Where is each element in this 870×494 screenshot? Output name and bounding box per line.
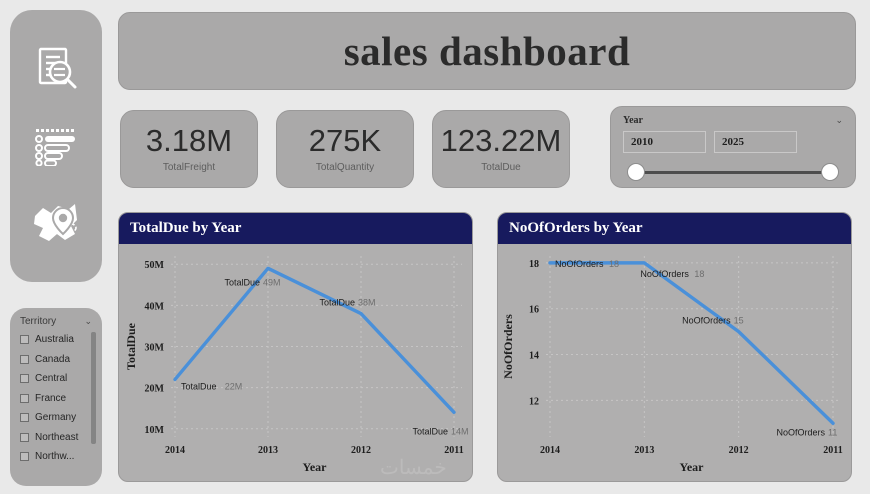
svg-text:2014: 2014 [165, 445, 185, 456]
svg-text:18: 18 [609, 259, 619, 269]
svg-text:TotalDue: TotalDue [412, 426, 448, 436]
svg-text:10M: 10M [145, 425, 165, 436]
year-range-inputs: 2010 2025 [623, 131, 843, 153]
svg-text:14M: 14M [451, 426, 469, 436]
list-item-label: Northeast [35, 432, 78, 443]
list-item-label: Australia [35, 334, 74, 345]
slider-track[interactable] [635, 171, 831, 174]
kpi-value: 275K [309, 125, 381, 158]
list-item[interactable]: Canada [18, 350, 96, 370]
year-max-input[interactable]: 2025 [714, 131, 797, 153]
list-item-label: Germany [35, 412, 76, 423]
chart-title: TotalDue by Year [130, 220, 241, 237]
svg-text:2012: 2012 [351, 445, 371, 456]
line-chart-svg: 10M20M30M40M50MTotalDueTotalDue22MTotalD… [119, 244, 472, 482]
kpi-label: TotalQuantity [316, 162, 374, 173]
svg-text:TotalDue: TotalDue [181, 381, 217, 391]
year-slicer-header: Year ⌄ [623, 115, 843, 126]
territory-slicer-header[interactable]: Territory ⌄ [18, 316, 96, 330]
list-item[interactable]: Northw... [18, 447, 96, 467]
svg-text:NoOfOrders: NoOfOrders [682, 316, 731, 326]
svg-text:16: 16 [529, 305, 539, 316]
svg-text:2013: 2013 [258, 445, 278, 456]
svg-text:50M: 50M [145, 260, 165, 271]
chart-plot-area[interactable]: 12141618NoOfOrdersNoOfOrders18NoOfOrders… [498, 244, 851, 482]
kpi-card-totalfreight[interactable]: 3.18M TotalFreight [120, 110, 258, 188]
list-item[interactable]: Australia [18, 330, 96, 350]
svg-text:Year: Year [303, 460, 328, 474]
svg-text:2011: 2011 [823, 445, 842, 456]
svg-text:NoOfOrders: NoOfOrders [640, 269, 689, 279]
svg-text:TotalDue: TotalDue [124, 322, 138, 370]
page-title-bar: sales dashboard [118, 12, 856, 90]
kpi-label: TotalDue [481, 162, 520, 173]
svg-text:NoOfOrders: NoOfOrders [501, 314, 515, 379]
chart-panel-totaldue: TotalDue by Year 10M20M30M40M50MTotalDue… [118, 212, 473, 482]
list-item-label: Canada [35, 354, 70, 365]
line-chart-svg: 12141618NoOfOrdersNoOfOrders18NoOfOrders… [498, 244, 851, 482]
svg-text:TotalDue: TotalDue [224, 277, 260, 287]
list-item-label: Northw... [35, 451, 74, 462]
slider-handle-max[interactable] [821, 163, 839, 181]
svg-text:Year: Year [680, 460, 705, 474]
chart-title: NoOfOrders by Year [509, 220, 643, 237]
svg-text:38M: 38M [358, 298, 376, 308]
list-item-label: Central [35, 373, 67, 384]
svg-text:2012: 2012 [729, 445, 749, 456]
kpi-card-totalquantity[interactable]: 275K TotalQuantity [276, 110, 414, 188]
territory-slicer-title: Territory [20, 316, 56, 327]
svg-text:30M: 30M [145, 343, 165, 354]
year-slicer-title: Year [623, 115, 643, 126]
chart-title-bar: TotalDue by Year [119, 213, 472, 244]
list-details-icon[interactable] [30, 120, 82, 172]
svg-text:TotalDue: TotalDue [319, 298, 355, 308]
list-item[interactable]: Central [18, 369, 96, 389]
year-slicer[interactable]: Year ⌄ 2010 2025 [610, 106, 856, 188]
kpi-value: 123.22M [441, 125, 562, 158]
list-item[interactable]: Germany [18, 408, 96, 428]
svg-text:20M: 20M [145, 384, 165, 395]
kpi-value: 3.18M [146, 125, 232, 158]
svg-text:12: 12 [529, 396, 539, 407]
territory-list: Australia Canada Central France Germany … [18, 330, 96, 467]
svg-text:2014: 2014 [540, 445, 560, 456]
scrollbar[interactable] [91, 332, 96, 444]
svg-text:40M: 40M [145, 301, 165, 312]
svg-text:2011: 2011 [444, 445, 463, 456]
nav-rail [10, 10, 102, 282]
checkbox[interactable] [20, 355, 29, 364]
slider-handle-min[interactable] [627, 163, 645, 181]
checkbox[interactable] [20, 374, 29, 383]
year-min-input[interactable]: 2010 [623, 131, 706, 153]
document-search-icon[interactable] [30, 43, 82, 95]
territory-slicer[interactable]: Territory ⌄ Australia Canada Central Fra… [10, 308, 102, 486]
checkbox[interactable] [20, 413, 29, 422]
list-item[interactable]: France [18, 389, 96, 409]
svg-text:15: 15 [734, 316, 744, 326]
chart-title-bar: NoOfOrders by Year [498, 213, 851, 244]
dashboard-root: Territory ⌄ Australia Canada Central Fra… [0, 0, 870, 494]
svg-text:18: 18 [529, 259, 539, 270]
chart-panel-noofdorders: NoOfOrders by Year 12141618NoOfOrdersNoO… [497, 212, 852, 482]
svg-text:NoOfOrders: NoOfOrders [776, 427, 825, 437]
map-pin-icon[interactable] [30, 197, 82, 249]
svg-text:2013: 2013 [634, 445, 654, 456]
checkbox[interactable] [20, 394, 29, 403]
page-title: sales dashboard [344, 27, 631, 75]
year-range-slider[interactable] [623, 163, 843, 181]
checkbox[interactable] [20, 335, 29, 344]
svg-text:49M: 49M [263, 277, 281, 287]
kpi-card-totaldue[interactable]: 123.22M TotalDue [432, 110, 570, 188]
chevron-down-icon[interactable]: ⌄ [84, 316, 92, 327]
svg-text:22M: 22M [225, 381, 243, 391]
checkbox[interactable] [20, 452, 29, 461]
list-item[interactable]: Northeast [18, 428, 96, 448]
list-item-label: France [35, 393, 66, 404]
svg-text:18: 18 [694, 269, 704, 279]
checkbox[interactable] [20, 433, 29, 442]
kpi-label: TotalFreight [163, 162, 215, 173]
chevron-down-icon[interactable]: ⌄ [835, 115, 843, 126]
svg-text:14: 14 [529, 351, 539, 362]
chart-plot-area[interactable]: 10M20M30M40M50MTotalDueTotalDue22MTotalD… [119, 244, 472, 482]
svg-text:NoOfOrders: NoOfOrders [555, 259, 604, 269]
svg-text:11: 11 [828, 427, 837, 437]
